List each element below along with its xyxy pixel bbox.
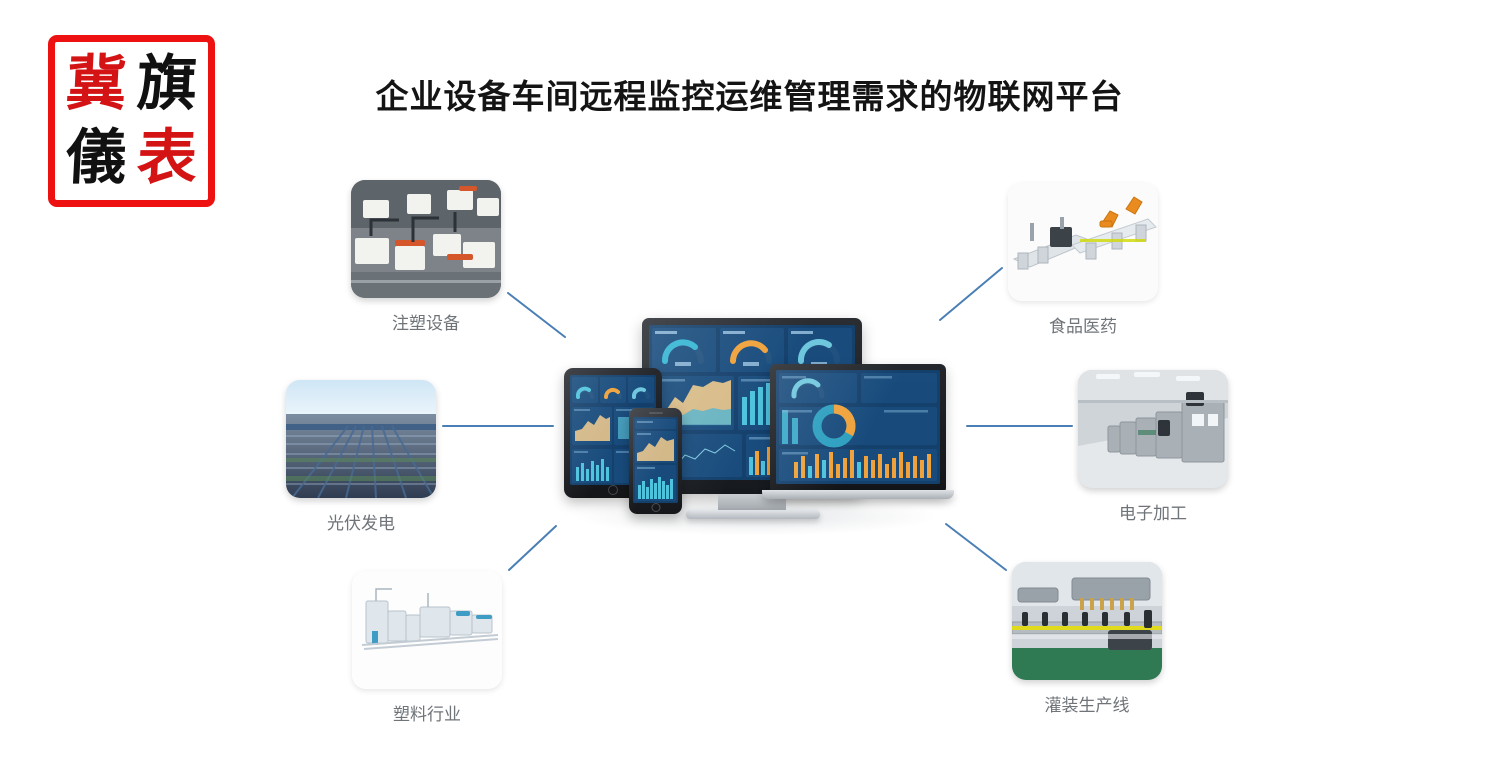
node-food-pharma[interactable]: 食品医药 <box>1008 183 1158 337</box>
node-label-injection-molding: 注塑设备 <box>351 309 501 334</box>
node-label-electronics: 电子加工 <box>1078 499 1228 524</box>
node-label-plastics-industry: 塑料行业 <box>352 700 502 725</box>
tablet-home-button[interactable] <box>608 485 618 495</box>
phone-home-button[interactable] <box>651 503 660 512</box>
plastics-industry-thumbnail <box>352 571 502 689</box>
node-label-food-pharma: 食品医药 <box>1008 312 1158 337</box>
logo-char-4: 表 <box>136 128 199 188</box>
node-photovoltaic[interactable]: 光伏发电 <box>286 380 436 534</box>
node-label-filling-line: 灌装生产线 <box>1012 691 1162 716</box>
node-electronics[interactable]: 电子加工 <box>1078 370 1228 524</box>
photovoltaic-thumbnail <box>286 380 436 498</box>
electronics-thumbnail <box>1078 370 1228 488</box>
page-title: 企业设备车间远程监控运维管理需求的物联网平台 <box>0 70 1499 118</box>
node-filling-line[interactable]: 灌装生产线 <box>1012 562 1162 716</box>
company-logo: 冀 旗 儀 表 <box>48 35 215 207</box>
connector-filling <box>946 524 1006 570</box>
injection-molding-thumbnail <box>351 180 501 298</box>
phone-dashboard-screen <box>633 417 678 503</box>
food-pharma-thumbnail <box>1008 183 1158 301</box>
filling-line-thumbnail <box>1012 562 1162 680</box>
node-label-photovoltaic: 光伏发电 <box>286 509 436 534</box>
laptop-dashboard-screen <box>776 370 940 484</box>
device-phone[interactable] <box>629 408 682 514</box>
device-cluster <box>546 300 976 530</box>
device-laptop[interactable] <box>770 364 946 494</box>
slide-canvas: 冀 旗 儀 表 企业设备车间远程监控运维管理需求的物联网平台 <box>0 0 1499 759</box>
monitor-base <box>686 510 820 519</box>
logo-char-3: 儀 <box>64 128 127 188</box>
laptop-base <box>762 490 954 499</box>
phone-speaker <box>649 412 663 414</box>
node-plastics-industry[interactable]: 塑料行业 <box>352 571 502 725</box>
node-injection-molding[interactable]: 注塑设备 <box>351 180 501 334</box>
connector-plastics <box>509 526 556 570</box>
